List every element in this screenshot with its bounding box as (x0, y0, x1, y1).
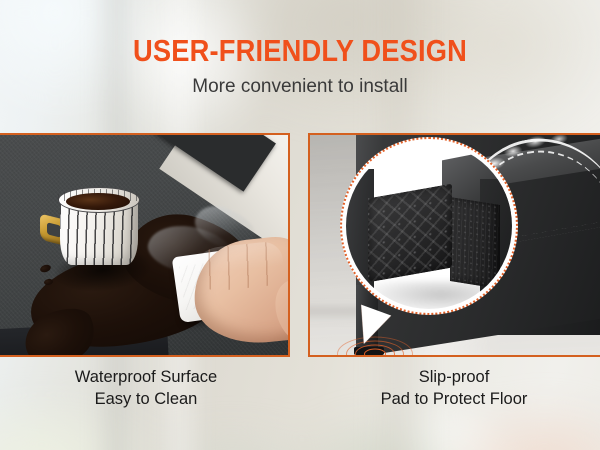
pad-diamond-texture (368, 184, 452, 283)
coffee-liquid (66, 193, 130, 210)
caption-line-2: Pad to Protect Floor (308, 388, 600, 410)
magnifier-callout (340, 137, 518, 315)
magnified-shadow (356, 281, 512, 309)
caption-slip-proof: Slip-proof Pad to Protect Floor (308, 366, 600, 410)
page-title: USER-FRIENDLY DESIGN (36, 34, 564, 68)
header: USER-FRIENDLY DESIGN More convenient to … (0, 34, 600, 99)
caption-waterproof: Waterproof Surface Easy to Clean (0, 366, 292, 410)
caption-line-2: Easy to Clean (0, 388, 292, 410)
slip-proof-pad-side (450, 197, 500, 289)
pad-side-grain (450, 197, 500, 289)
coffee-mug (60, 187, 142, 273)
caption-line-1: Waterproof Surface (75, 368, 217, 386)
waterproof-photo (0, 135, 288, 355)
magnifier-content (346, 143, 512, 309)
feature-panels (0, 133, 600, 357)
panel-captions: Waterproof Surface Easy to Clean Slip-pr… (0, 366, 600, 422)
feature-panel-slip-proof (308, 133, 600, 357)
page-subtitle: More convenient to install (0, 75, 600, 99)
slip-proof-photo (310, 135, 600, 355)
mug-rim (58, 187, 140, 213)
feature-panel-waterproof (0, 133, 290, 357)
caption-line-1: Slip-proof (419, 368, 490, 386)
slip-proof-pad-top (368, 184, 452, 283)
